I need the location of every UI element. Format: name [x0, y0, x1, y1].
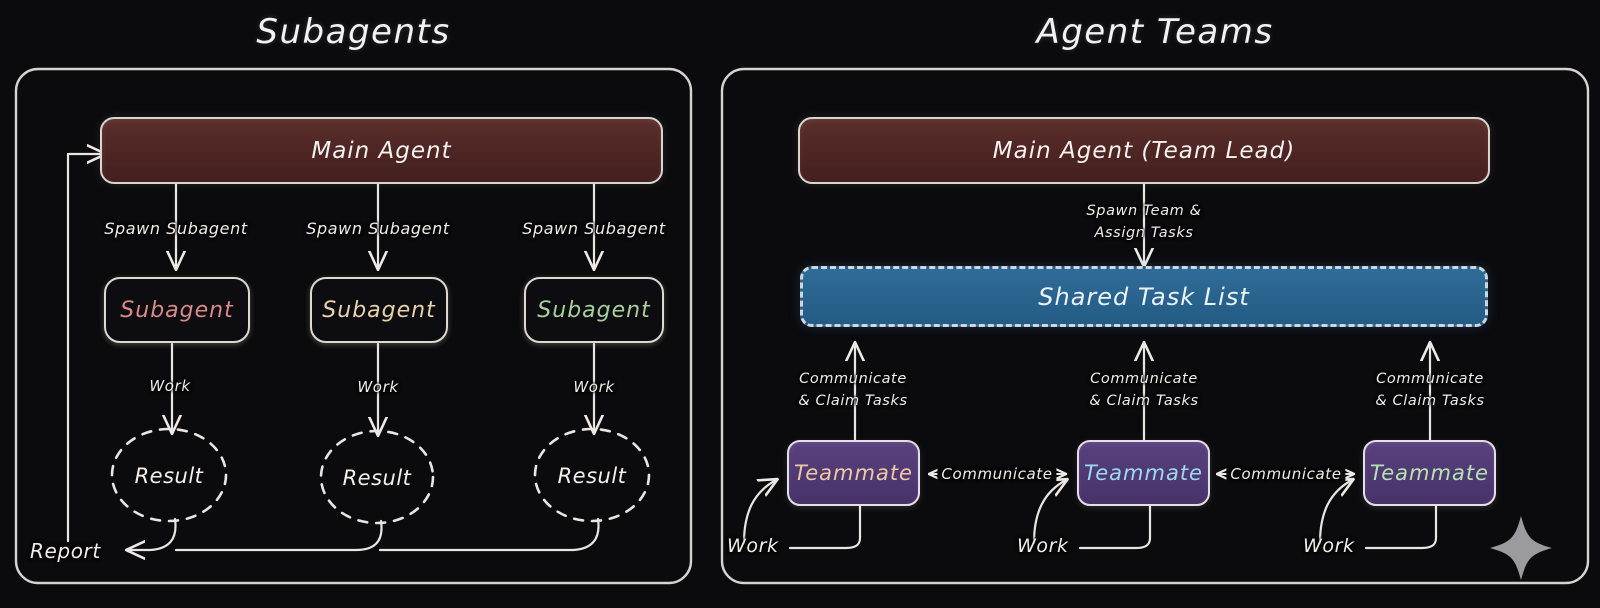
subagent-label-3: Subagent	[537, 298, 650, 323]
edge-label-work-2: Work	[357, 378, 398, 396]
teammate-box-2[interactable]: Teammate	[1077, 440, 1210, 506]
edge-label-claim-2-line2: & Claim Tasks	[1089, 393, 1198, 411]
edge-label-communicate-2: Communicate	[1226, 465, 1345, 483]
result-node-1: Result	[135, 464, 204, 488]
shared-task-list-box[interactable]: Shared Task List	[800, 266, 1488, 327]
edge-label-claim-1-line1: Communicate	[799, 371, 907, 389]
edge-label-team-work-2: Work	[1017, 535, 1069, 557]
edge-label-spawn-team-line2: Assign Tasks	[1095, 225, 1194, 243]
edge-label-claim-3-line1: Communicate	[1376, 371, 1484, 389]
edge-label-team-work-3: Work	[1303, 535, 1355, 557]
edge-label-claim-2-line1: Communicate	[1090, 371, 1198, 389]
shared-task-list-label: Shared Task List	[1038, 283, 1249, 311]
edge-label-claim-1-line2: & Claim Tasks	[798, 393, 907, 411]
edge-label-spawn-subagent-3: Spawn Subagent	[522, 219, 666, 238]
edge-label-communicate-1: Communicate	[937, 465, 1056, 483]
result-node-2: Result	[343, 466, 412, 490]
subagent-label-2: Subagent	[322, 298, 435, 323]
team-lead-box[interactable]: Main Agent (Team Lead)	[798, 117, 1490, 184]
team-lead-label: Main Agent (Team Lead)	[993, 138, 1295, 164]
teammate-label-3: Teammate	[1370, 461, 1489, 485]
edge-label-team-work-1: Work	[727, 535, 779, 557]
teammate-label-1: Teammate	[794, 461, 913, 485]
edge-label-spawn-team-line1: Spawn Team &	[1086, 203, 1201, 221]
edge-label-spawn-subagent-1: Spawn Subagent	[104, 219, 248, 238]
subagent-label-1: Subagent	[120, 298, 233, 323]
subagent-box-3[interactable]: Subagent	[524, 277, 664, 343]
main-agent-label: Main Agent	[311, 138, 451, 164]
teammate-label-2: Teammate	[1084, 461, 1203, 485]
edge-label-work-1: Work	[149, 377, 190, 395]
main-agent-box[interactable]: Main Agent	[100, 117, 663, 184]
subagent-box-2[interactable]: Subagent	[310, 277, 448, 343]
edge-label-report: Report	[30, 539, 101, 563]
edge-label-claim-3-line2: & Claim Tasks	[1375, 393, 1484, 411]
subagent-box-1[interactable]: Subagent	[104, 277, 250, 343]
edge-label-work-3: Work	[573, 378, 614, 396]
panel-title-subagents: Subagents	[16, 12, 691, 52]
sparkle-icon	[1490, 516, 1552, 580]
result-node-3: Result	[558, 464, 627, 488]
diagram-canvas: Subagents Main Agent Spawn Subagent Spaw…	[0, 0, 1600, 608]
teammate-box-3[interactable]: Teammate	[1363, 440, 1496, 506]
teammate-box-1[interactable]: Teammate	[787, 440, 920, 506]
edge-label-spawn-subagent-2: Spawn Subagent	[306, 219, 450, 238]
panel-title-agent-teams: Agent Teams	[722, 12, 1588, 52]
